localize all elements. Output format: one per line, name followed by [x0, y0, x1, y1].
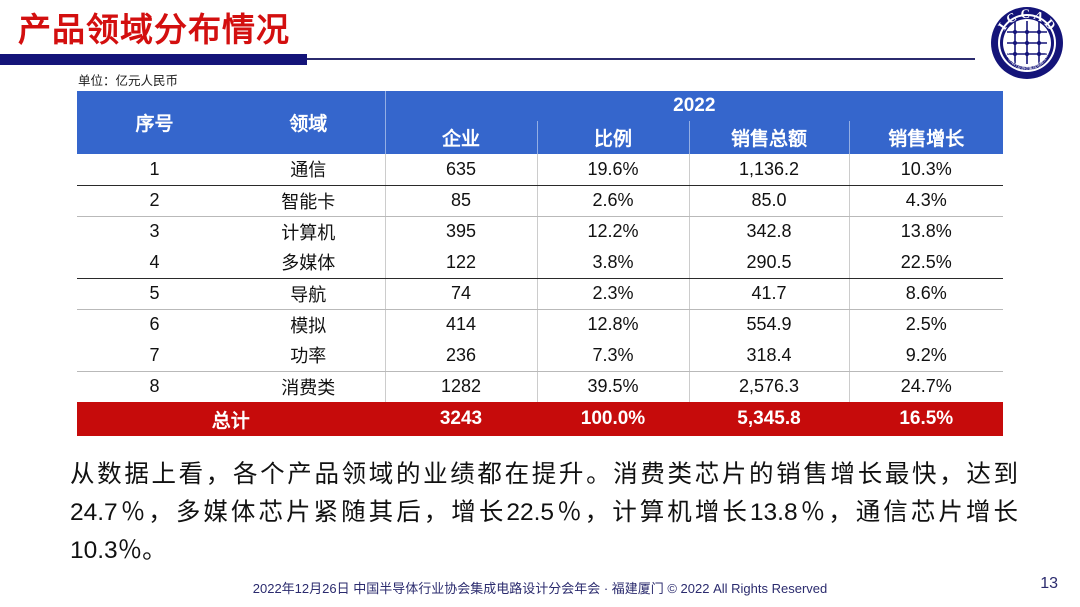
cell-enterprises: 1282	[385, 371, 537, 402]
cell-total-label: 总计	[77, 402, 385, 436]
cell-growth: 8.6%	[849, 278, 1003, 309]
col-header-field: 领域	[232, 91, 385, 154]
cell-growth: 4.3%	[849, 185, 1003, 216]
footer-text: 2022年12月26日 中国半导体行业协会集成电路设计分会年会 · 福建厦门 ©…	[0, 578, 1080, 597]
cell-ratio: 12.2%	[537, 216, 689, 247]
cell-growth: 13.8%	[849, 216, 1003, 247]
cell-enterprises: 414	[385, 309, 537, 340]
cell-ratio: 12.8%	[537, 309, 689, 340]
col-header-enterprises: 企业	[385, 121, 537, 154]
cell-growth: 2.5%	[849, 309, 1003, 340]
col-header-ratio: 比例	[537, 121, 689, 154]
cell-field: 智能卡	[232, 185, 385, 216]
col-header-year: 2022	[385, 91, 1003, 121]
table-row: 4 多媒体 122 3.8% 290.5 22.5%	[77, 247, 1003, 278]
page-number: 13	[1040, 575, 1058, 593]
page-title: 产品领域分布情况	[18, 8, 290, 52]
cell-sales: 41.7	[689, 278, 849, 309]
cell-index: 8	[77, 371, 232, 402]
cell-field: 多媒体	[232, 247, 385, 278]
col-header-index: 序号	[77, 91, 232, 154]
cell-sales: 2,576.3	[689, 371, 849, 402]
cell-field: 功率	[232, 340, 385, 371]
col-header-growth: 销售增长	[849, 121, 1003, 154]
cell-field: 消费类	[232, 371, 385, 402]
col-header-sales: 销售总额	[689, 121, 849, 154]
cell-index: 3	[77, 216, 232, 247]
cell-field: 通信	[232, 154, 385, 185]
cell-field: 导航	[232, 278, 385, 309]
cell-total-ratio: 100.0%	[537, 402, 689, 436]
title-rule-thick	[0, 54, 307, 65]
cell-ratio: 19.6%	[537, 154, 689, 185]
cell-growth: 22.5%	[849, 247, 1003, 278]
cell-index: 7	[77, 340, 232, 371]
cell-total-growth: 16.5%	[849, 402, 1003, 436]
cell-index: 5	[77, 278, 232, 309]
table-row: 5 导航 74 2.3% 41.7 8.6%	[77, 278, 1003, 309]
cell-enterprises: 395	[385, 216, 537, 247]
cell-enterprises: 635	[385, 154, 537, 185]
cell-total-sales: 5,345.8	[689, 402, 849, 436]
cell-growth: 10.3%	[849, 154, 1003, 185]
cell-enterprises: 74	[385, 278, 537, 309]
table-row: 7 功率 236 7.3% 318.4 9.2%	[77, 340, 1003, 371]
cell-enterprises: 236	[385, 340, 537, 371]
title-rule-thin	[307, 58, 975, 60]
cell-field: 计算机	[232, 216, 385, 247]
table-row: 3 计算机 395 12.2% 342.8 13.8%	[77, 216, 1003, 247]
iccad-logo: I C C A D 中国半导体行业协会集成电路设计分会	[986, 4, 1068, 82]
cell-enterprises: 85	[385, 185, 537, 216]
cell-field: 模拟	[232, 309, 385, 340]
cell-sales: 318.4	[689, 340, 849, 371]
cell-index: 2	[77, 185, 232, 216]
cell-sales: 1,136.2	[689, 154, 849, 185]
analysis-paragraph: 从数据上看，各个产品领域的业绩都在提升。消费类芯片的销售增长最快，达到24.7％…	[70, 456, 1018, 570]
cell-sales: 554.9	[689, 309, 849, 340]
table-row: 8 消费类 1282 39.5% 2,576.3 24.7%	[77, 371, 1003, 402]
table-row: 2 智能卡 85 2.6% 85.0 4.3%	[77, 185, 1003, 216]
product-field-table: 序号 领域 2022 企业 比例 销售总额 销售增长 1 通信 635 19.6…	[77, 91, 1003, 436]
cell-ratio: 7.3%	[537, 340, 689, 371]
cell-ratio: 39.5%	[537, 371, 689, 402]
cell-ratio: 2.3%	[537, 278, 689, 309]
cell-sales: 290.5	[689, 247, 849, 278]
table-row: 6 模拟 414 12.8% 554.9 2.5%	[77, 309, 1003, 340]
cell-growth: 24.7%	[849, 371, 1003, 402]
cell-enterprises: 122	[385, 247, 537, 278]
unit-label: 单位：亿元人民币	[78, 70, 178, 89]
cell-index: 1	[77, 154, 232, 185]
table-body: 1 通信 635 19.6% 1,136.2 10.3% 2 智能卡 85 2.…	[77, 154, 1003, 436]
table-row: 1 通信 635 19.6% 1,136.2 10.3%	[77, 154, 1003, 185]
cell-total-enterprises: 3243	[385, 402, 537, 436]
cell-index: 4	[77, 247, 232, 278]
cell-sales: 85.0	[689, 185, 849, 216]
cell-ratio: 3.8%	[537, 247, 689, 278]
slide-root: 产品领域分布情况 I C C A D	[0, 0, 1080, 607]
cell-ratio: 2.6%	[537, 185, 689, 216]
cell-index: 6	[77, 309, 232, 340]
cell-growth: 9.2%	[849, 340, 1003, 371]
table-total-row: 总计 3243 100.0% 5,345.8 16.5%	[77, 402, 1003, 436]
cell-sales: 342.8	[689, 216, 849, 247]
table-header: 序号 领域 2022 企业 比例 销售总额 销售增长	[77, 91, 1003, 154]
